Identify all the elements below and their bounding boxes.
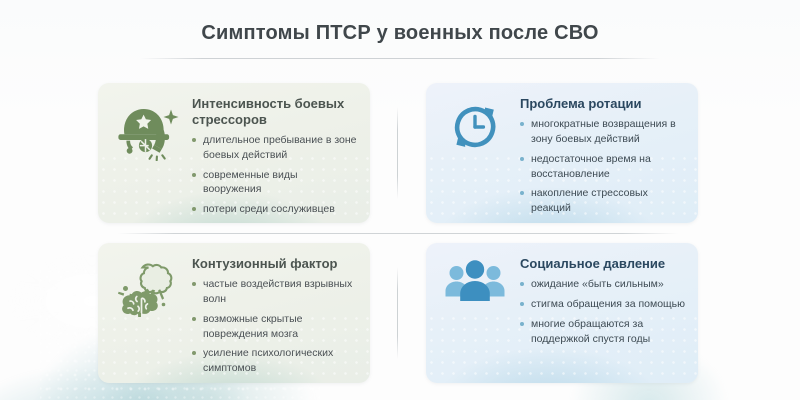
- list-item: накопление стрессовых реакций: [520, 186, 686, 216]
- list-item: потери среди сослуживцев: [192, 202, 358, 217]
- brain-blast-icon: [110, 255, 184, 329]
- cards-grid: Интенсивность боевых стрессоров длительн…: [98, 83, 698, 383]
- list-item: стигма обращения за помощью: [520, 297, 686, 312]
- card-heading: Социальное давление: [520, 256, 686, 272]
- list-item: современные виды вооружения: [192, 168, 358, 198]
- card-heading: Проблема ротации: [520, 96, 686, 112]
- column-divider-bottom: [397, 267, 398, 359]
- card-social-pressure[interactable]: Социальное давление ожидание «быть сильн…: [426, 243, 698, 383]
- card-heading: Интенсивность боевых стрессоров: [192, 96, 358, 128]
- page-title: Симптомы ПТСР у военных после СВО: [0, 0, 800, 45]
- list-item: усиление психологических симптомов: [192, 346, 358, 376]
- title-divider: [140, 58, 660, 59]
- military-helmet-icon: [110, 95, 184, 169]
- list-item: длительное пребывание в зоне боевых дейс…: [192, 133, 358, 163]
- slide-header: Симптомы ПТСР у военных после СВО: [0, 0, 800, 59]
- card-bullet-list: частые воздействия взрывных волн возможн…: [192, 277, 358, 376]
- list-item: многократные возвращения в зону боевых д…: [520, 117, 686, 147]
- list-item: частые воздействия взрывных волн: [192, 277, 358, 307]
- people-group-icon: [438, 255, 512, 329]
- card-bullet-list: ожидание «быть сильным» стигма обращения…: [520, 277, 686, 347]
- column-divider-top: [397, 107, 398, 199]
- list-item: многие обращаются за поддержкой спустя г…: [520, 317, 686, 347]
- row-divider: [118, 233, 678, 234]
- card-bullet-list: многократные возвращения в зону боевых д…: [520, 117, 686, 216]
- card-bullet-list: длительное пребывание в зоне боевых дейс…: [192, 133, 358, 218]
- list-item: недостаточное время на восстановление: [520, 152, 686, 182]
- list-item: возможные скрытые повреждения мозга: [192, 312, 358, 342]
- card-rotation-problem[interactable]: Проблема ротации многократные возвращени…: [426, 83, 698, 223]
- list-item: ожидание «быть сильным»: [520, 277, 686, 292]
- card-heading: Контузионный фактор: [192, 256, 358, 272]
- slide-canvas: Симптомы ПТСР у военных после СВО: [0, 0, 800, 400]
- card-concussion-factor[interactable]: Контузионный фактор частые воздействия в…: [98, 243, 370, 383]
- clock-rotation-icon: [438, 95, 512, 169]
- card-combat-stressors[interactable]: Интенсивность боевых стрессоров длительн…: [98, 83, 370, 223]
